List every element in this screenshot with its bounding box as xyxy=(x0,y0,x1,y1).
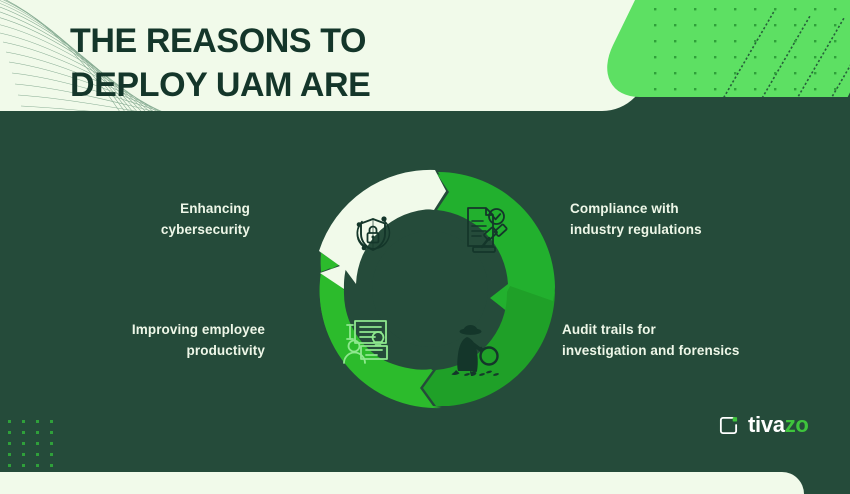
label-cybersecurity-line-1: Enhancing xyxy=(90,199,250,220)
label-cybersecurity-line-2: cybersecurity xyxy=(90,220,250,241)
label-cybersecurity: Enhancing cybersecurity xyxy=(90,199,250,240)
label-compliance-line-1: Compliance with xyxy=(570,199,760,220)
label-compliance: Compliance with industry regulations xyxy=(570,199,760,240)
brand-logo[interactable]: tivazo xyxy=(718,414,809,436)
title-line-2: DEPLOY UAM ARE xyxy=(70,64,630,108)
label-forensics-line-2: investigation and forensics xyxy=(562,341,762,362)
label-forensics: Audit trails for investigation and foren… xyxy=(562,320,762,361)
label-compliance-line-2: industry regulations xyxy=(570,220,760,241)
label-productivity-line-1: Improving employee xyxy=(60,320,265,341)
person-documents-idea-icon xyxy=(341,316,393,368)
label-productivity-line-2: productivity xyxy=(60,341,265,362)
dot-grid-top-decor xyxy=(654,8,850,100)
title-line-1: THE REASONS TO xyxy=(70,20,630,64)
detective-magnifier-icon xyxy=(443,324,503,380)
slide-canvas: THE REASONS TO DEPLOY UAM ARE xyxy=(0,0,850,494)
label-forensics-line-1: Audit trails for xyxy=(562,320,762,341)
cycle-diagram xyxy=(299,168,561,410)
footer-panel xyxy=(0,472,804,494)
brand-name-accent: zo xyxy=(785,412,809,437)
brand-name: tivazo xyxy=(748,414,809,436)
donut-segments xyxy=(299,168,561,410)
brand-name-primary: tiva xyxy=(748,412,785,437)
document-gavel-icon xyxy=(459,202,515,258)
bracket-square-icon xyxy=(718,415,739,436)
page-title: THE REASONS TO DEPLOY UAM ARE xyxy=(70,20,630,107)
label-productivity: Improving employee productivity xyxy=(60,320,265,361)
shield-lock-icon xyxy=(349,210,397,258)
